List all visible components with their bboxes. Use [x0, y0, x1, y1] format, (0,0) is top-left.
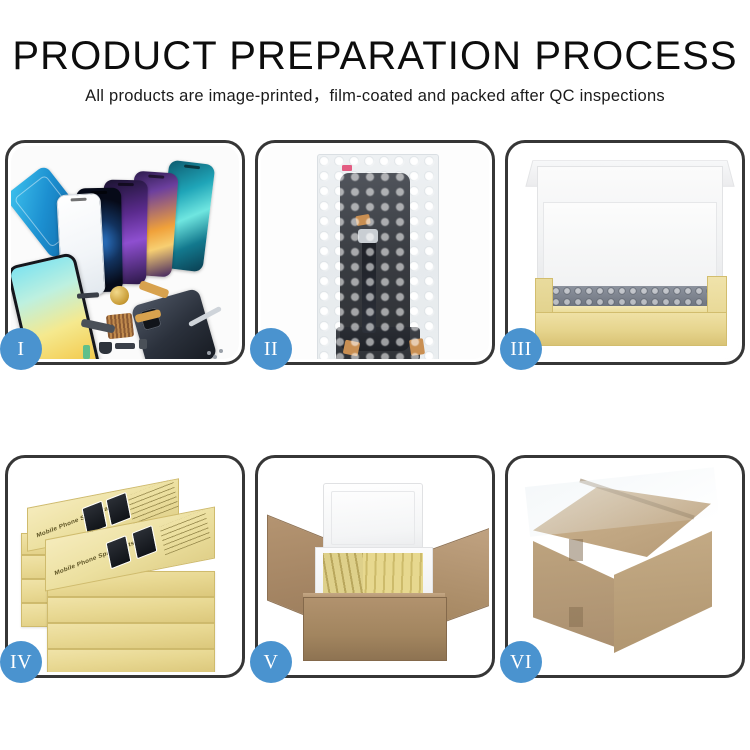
foam-sheet [543, 202, 717, 290]
carton-front-wall [303, 597, 447, 661]
step-badge-1: I [0, 328, 42, 370]
box-front-wall [535, 312, 727, 346]
step-badge-5: V [250, 641, 292, 683]
copper-tape-2 [343, 340, 361, 357]
process-step-panel-1[interactable]: I [5, 140, 245, 365]
process-step-panel-5[interactable]: V [255, 455, 495, 678]
box-art-screen-3 [106, 535, 132, 569]
process-step-panel-3[interactable]: III [505, 140, 745, 365]
retail-box-front-4 [47, 649, 215, 672]
step-4-photo: Mobile Phone Spare Parts Mobile Phone Sp… [11, 461, 239, 672]
process-step-panel-4[interactable]: Mobile Phone Spare Parts Mobile Phone Sp… [5, 455, 245, 678]
step-2-photo [261, 146, 489, 359]
screen-flex-cable [362, 237, 376, 333]
box-art-screen-4 [132, 525, 158, 559]
spare-part-bar-2 [115, 343, 135, 349]
page-subtitle: All products are image-printed，film-coat… [0, 85, 750, 107]
screen-connector [358, 229, 378, 243]
retail-box-front-2 [47, 597, 215, 623]
spare-part-adhesive-tube [83, 345, 90, 359]
process-steps-grid: I II [5, 140, 745, 678]
page-title: PRODUCT PREPARATION PROCESS [0, 34, 750, 78]
step-6-photo [511, 461, 739, 672]
step-badge-4: IV [0, 641, 42, 683]
step-5-photo [261, 461, 489, 672]
step-1-photo [11, 146, 239, 359]
process-step-panel-6[interactable]: VI [505, 455, 745, 678]
step-badge-3: III [500, 328, 542, 370]
copper-tape-3 [409, 338, 425, 356]
styrofoam-lid [323, 483, 423, 553]
spare-part-speaker [99, 342, 112, 354]
spare-part-screws [207, 351, 211, 355]
process-step-panel-2[interactable]: II [255, 140, 495, 365]
retail-box-front-3 [47, 623, 215, 649]
spare-part-speaker-coil [110, 286, 129, 305]
carton-tape-upper [569, 539, 583, 561]
step-badge-2: II [250, 328, 292, 370]
page-header: PRODUCT PREPARATION PROCESS All products… [0, 0, 750, 107]
bubble-wrap-sheet [317, 154, 439, 359]
step-3-photo [511, 146, 739, 359]
packed-yellow-boxes-angled [323, 553, 363, 597]
step-badge-6: VI [500, 641, 542, 683]
retail-box-stack: Mobile Phone Spare Parts Mobile Phone Sp… [17, 475, 239, 671]
carton-tape-lower [569, 607, 583, 627]
pink-label-sticker [342, 165, 352, 171]
spare-part-button [139, 339, 147, 349]
box-art-text-lines-2 [160, 509, 211, 555]
